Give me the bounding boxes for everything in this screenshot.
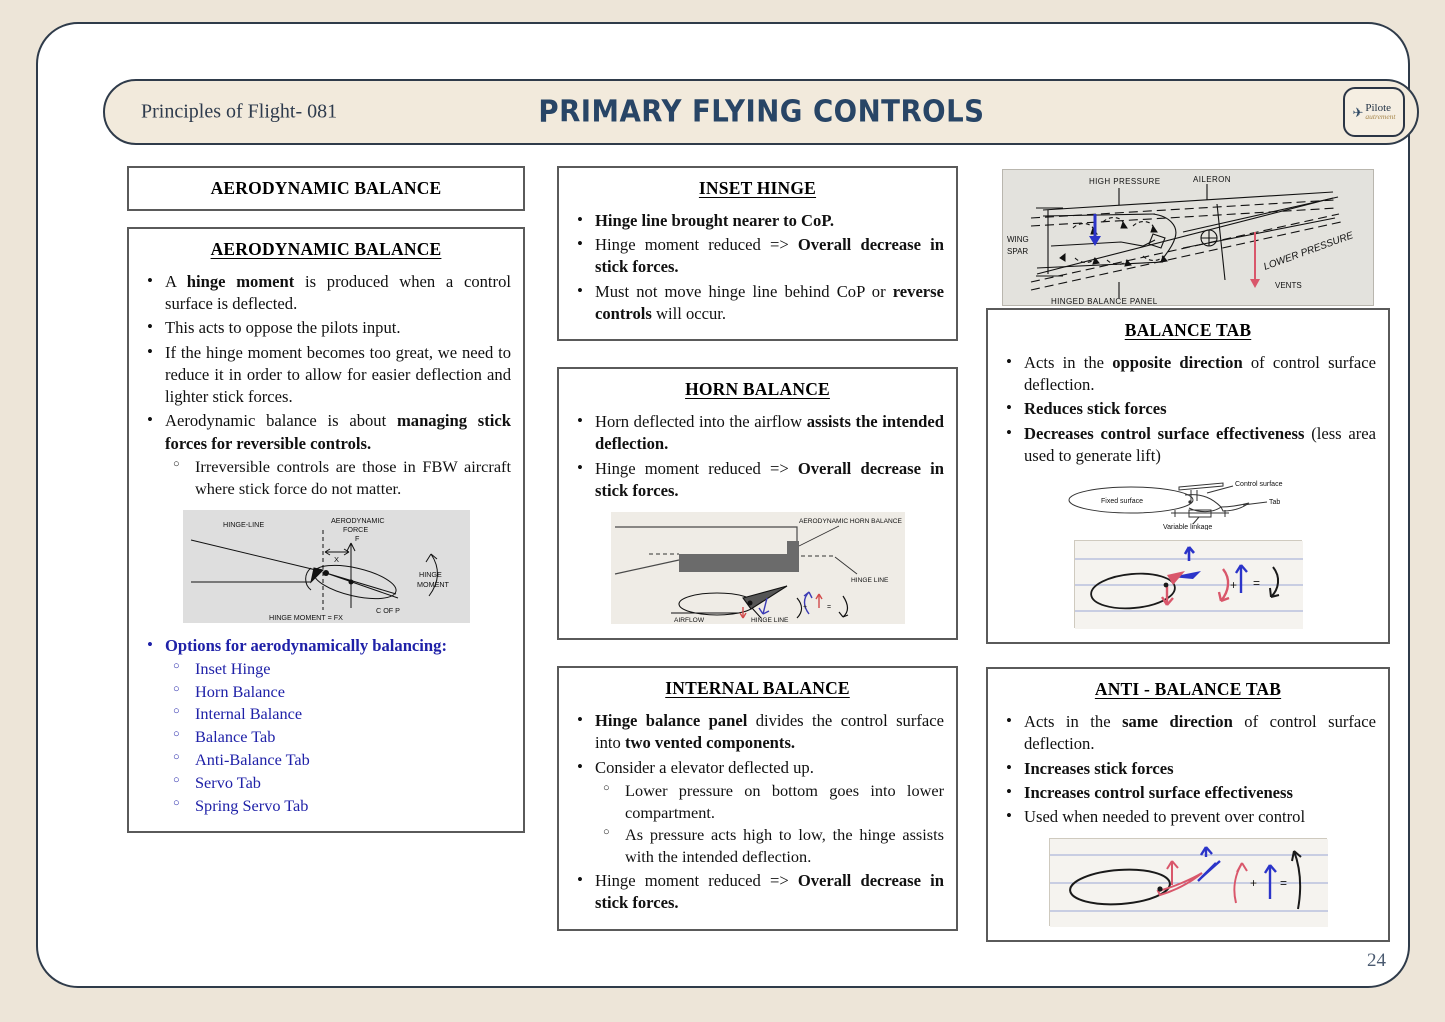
bullet-item: Hinge line brought nearer to CoP. xyxy=(571,210,944,232)
box-title: HORN BALANCE xyxy=(571,379,944,400)
box-title: INSET HINGE xyxy=(571,178,944,199)
balance-tab-sketch: + = xyxy=(1074,540,1302,628)
svg-text:WING: WING xyxy=(1007,235,1029,244)
svg-text:=: = xyxy=(1253,576,1260,590)
svg-text:Fixed surface: Fixed surface xyxy=(1101,498,1143,505)
svg-text:FORCE: FORCE xyxy=(343,525,368,534)
bullet-item: Hinge moment reduced => Overall decrease… xyxy=(571,234,944,278)
bullet-item: Increases stick forces xyxy=(1000,758,1376,780)
sub-bullet-item: As pressure acts high to low, the hinge … xyxy=(595,824,944,868)
internal-balance-box: INTERNAL BALANCE Hinge balance panel div… xyxy=(557,666,958,930)
bullet-list: Hinge balance panel divides the control … xyxy=(571,710,944,914)
anti-balance-tab-box: ANTI - BALANCE TAB Acts in the same dire… xyxy=(986,667,1390,942)
bullet-list: Acts in the same direction of control su… xyxy=(1000,711,1376,828)
svg-text:HINGE LINE: HINGE LINE xyxy=(751,617,789,624)
bullet-item: Must not move hinge line behind CoP or r… xyxy=(571,281,944,325)
page-title: PRIMARY FLYING CONTROLS xyxy=(105,95,1417,130)
svg-text:AILERON: AILERON xyxy=(1193,175,1231,184)
svg-text:SPAR: SPAR xyxy=(1007,247,1028,256)
bullet-item: Hinge moment reduced => Overall decrease… xyxy=(571,870,944,914)
bullet-item: Hinge moment reduced => Overall decrease… xyxy=(571,458,944,502)
box-title: BALANCE TAB xyxy=(1000,320,1376,341)
hinged-balance-panel-diagram: HIGH PRESSURE AILERON WING SPAR HINGED B… xyxy=(1002,169,1374,306)
svg-text:AERODYNAMIC HORN BALANCE: AERODYNAMIC HORN BALANCE xyxy=(799,518,903,525)
svg-text:HINGE-LINE: HINGE-LINE xyxy=(223,520,264,529)
list-item: Horn Balance xyxy=(165,681,511,703)
bullet-item: Used when needed to prevent over control xyxy=(1000,806,1376,828)
bullet-item: A hinge moment is produced when a contro… xyxy=(141,271,511,315)
bullet-item: Hinge balance panel divides the control … xyxy=(571,710,944,754)
svg-text:X: X xyxy=(334,555,339,564)
balance-tab-box: BALANCE TAB Acts in the opposite directi… xyxy=(986,308,1390,644)
left-column: AERODYNAMIC BALANCE AERODYNAMIC BALANCE … xyxy=(127,166,525,849)
airplane-icon: ✈ xyxy=(1352,106,1363,119)
box-title: AERODYNAMIC BALANCE xyxy=(141,239,511,260)
sub-bullet-list: Lower pressure on bottom goes into lower… xyxy=(595,780,944,868)
svg-text:Variable linkage: Variable linkage xyxy=(1163,524,1212,530)
bullet-item: Consider a elevator deflected up.Lower p… xyxy=(571,757,944,869)
list-item: Internal Balance xyxy=(165,703,511,725)
bullet-item: Reduces stick forces xyxy=(1000,398,1376,420)
hinge-moment-diagram: HINGE-LINE AERODYNAMIC FORCE F X HINGE M… xyxy=(183,510,470,623)
options-list: Options for aerodynamically balancing: I… xyxy=(141,635,511,817)
horn-balance-box: HORN BALANCE Horn deflected into the air… xyxy=(557,367,958,640)
svg-text:Control surface: Control surface xyxy=(1235,481,1283,488)
svg-text:AERODYNAMIC: AERODYNAMIC xyxy=(331,516,385,525)
anti-balance-tab-sketch: + = xyxy=(1049,838,1327,926)
svg-text:MOMENT: MOMENT xyxy=(417,580,450,589)
list-item: Balance Tab xyxy=(165,726,511,748)
box-title: ANTI - BALANCE TAB xyxy=(1000,679,1376,700)
svg-text:C OF P: C OF P xyxy=(376,606,400,615)
page-header: Principles of Flight- 081 PRIMARY FLYING… xyxy=(103,79,1419,145)
bullet-item: Acts in the same direction of control su… xyxy=(1000,711,1376,755)
middle-column: INSET HINGE Hinge line brought nearer to… xyxy=(557,166,958,947)
aerodynamic-balance-box: AERODYNAMIC BALANCE A hinge moment is pr… xyxy=(127,227,525,833)
svg-text:+: + xyxy=(1250,876,1257,890)
svg-text:HINGED BALANCE PANEL: HINGED BALANCE PANEL xyxy=(1051,297,1158,306)
bullet-item: This acts to oppose the pilots input. xyxy=(141,317,511,339)
bullet-list: Acts in the opposite direction of contro… xyxy=(1000,352,1376,467)
sub-bullet-item: Irreversible controls are those in FBW a… xyxy=(165,456,511,500)
inset-hinge-box: INSET HINGE Hinge line brought nearer to… xyxy=(557,166,958,341)
svg-text:HINGE: HINGE xyxy=(419,570,442,579)
svg-text:HINGE MOMENT = FX: HINGE MOMENT = FX xyxy=(269,613,343,622)
bullet-item: Increases control surface effectiveness xyxy=(1000,782,1376,804)
svg-text:HINGE LINE: HINGE LINE xyxy=(851,577,889,584)
page-card: Principles of Flight- 081 PRIMARY FLYING… xyxy=(36,22,1410,988)
svg-text:+: + xyxy=(803,604,807,611)
aerodynamic-balance-banner: AERODYNAMIC BALANCE xyxy=(127,166,525,211)
svg-text:Tab: Tab xyxy=(1269,499,1280,506)
svg-text:VENTS: VENTS xyxy=(1275,281,1302,290)
bullet-item: Horn deflected into the airflow assists … xyxy=(571,411,944,455)
svg-text:HIGH PRESSURE: HIGH PRESSURE xyxy=(1089,177,1160,186)
bullet-item: If the hinge moment becomes too great, w… xyxy=(141,342,511,409)
svg-text:F: F xyxy=(355,534,360,543)
svg-text:LOWER PRESSURE: LOWER PRESSURE xyxy=(1262,230,1355,273)
logo-tagline: autrement xyxy=(1365,113,1395,121)
page-number: 24 xyxy=(1367,950,1386,972)
horn-balance-diagram: AERODYNAMIC HORN BALANCE HINGE LINE xyxy=(611,512,905,624)
svg-text:=: = xyxy=(1280,876,1287,890)
bullet-list: Horn deflected into the airflow assists … xyxy=(571,411,944,502)
list-item: Inset Hinge xyxy=(165,658,511,680)
balance-tab-diagram: Fixed surface Control surface Tab Variab… xyxy=(1053,477,1323,530)
bullet-list: A hinge moment is produced when a contro… xyxy=(141,271,511,500)
sub-bullet-list: Irreversible controls are those in FBW a… xyxy=(165,456,511,500)
bullet-list: Hinge line brought nearer to CoP.Hinge m… xyxy=(571,210,944,325)
options-sublist: Inset HingeHorn BalanceInternal BalanceB… xyxy=(165,658,511,817)
svg-text:=: = xyxy=(827,604,831,611)
list-item: Servo Tab xyxy=(165,772,511,794)
list-item: Anti-Balance Tab xyxy=(165,749,511,771)
svg-text:AIRFLOW: AIRFLOW xyxy=(674,617,705,624)
bullet-item: Acts in the opposite direction of contro… xyxy=(1000,352,1376,396)
sub-bullet-item: Lower pressure on bottom goes into lower… xyxy=(595,780,944,824)
svg-text:+: + xyxy=(1230,578,1237,592)
list-item: Spring Servo Tab xyxy=(165,795,511,817)
brand-logo: ✈ Pilote autrement xyxy=(1343,87,1405,137)
banner-label: AERODYNAMIC BALANCE xyxy=(141,178,511,199)
options-heading: Options for aerodynamically balancing: I… xyxy=(141,635,511,817)
box-title: INTERNAL BALANCE xyxy=(571,678,944,699)
bullet-item: Aerodynamic balance is about managing st… xyxy=(141,410,511,499)
bullet-item: Decreases control surface effectiveness … xyxy=(1000,423,1376,467)
right-column: HIGH PRESSURE AILERON WING SPAR HINGED B… xyxy=(986,159,1390,958)
